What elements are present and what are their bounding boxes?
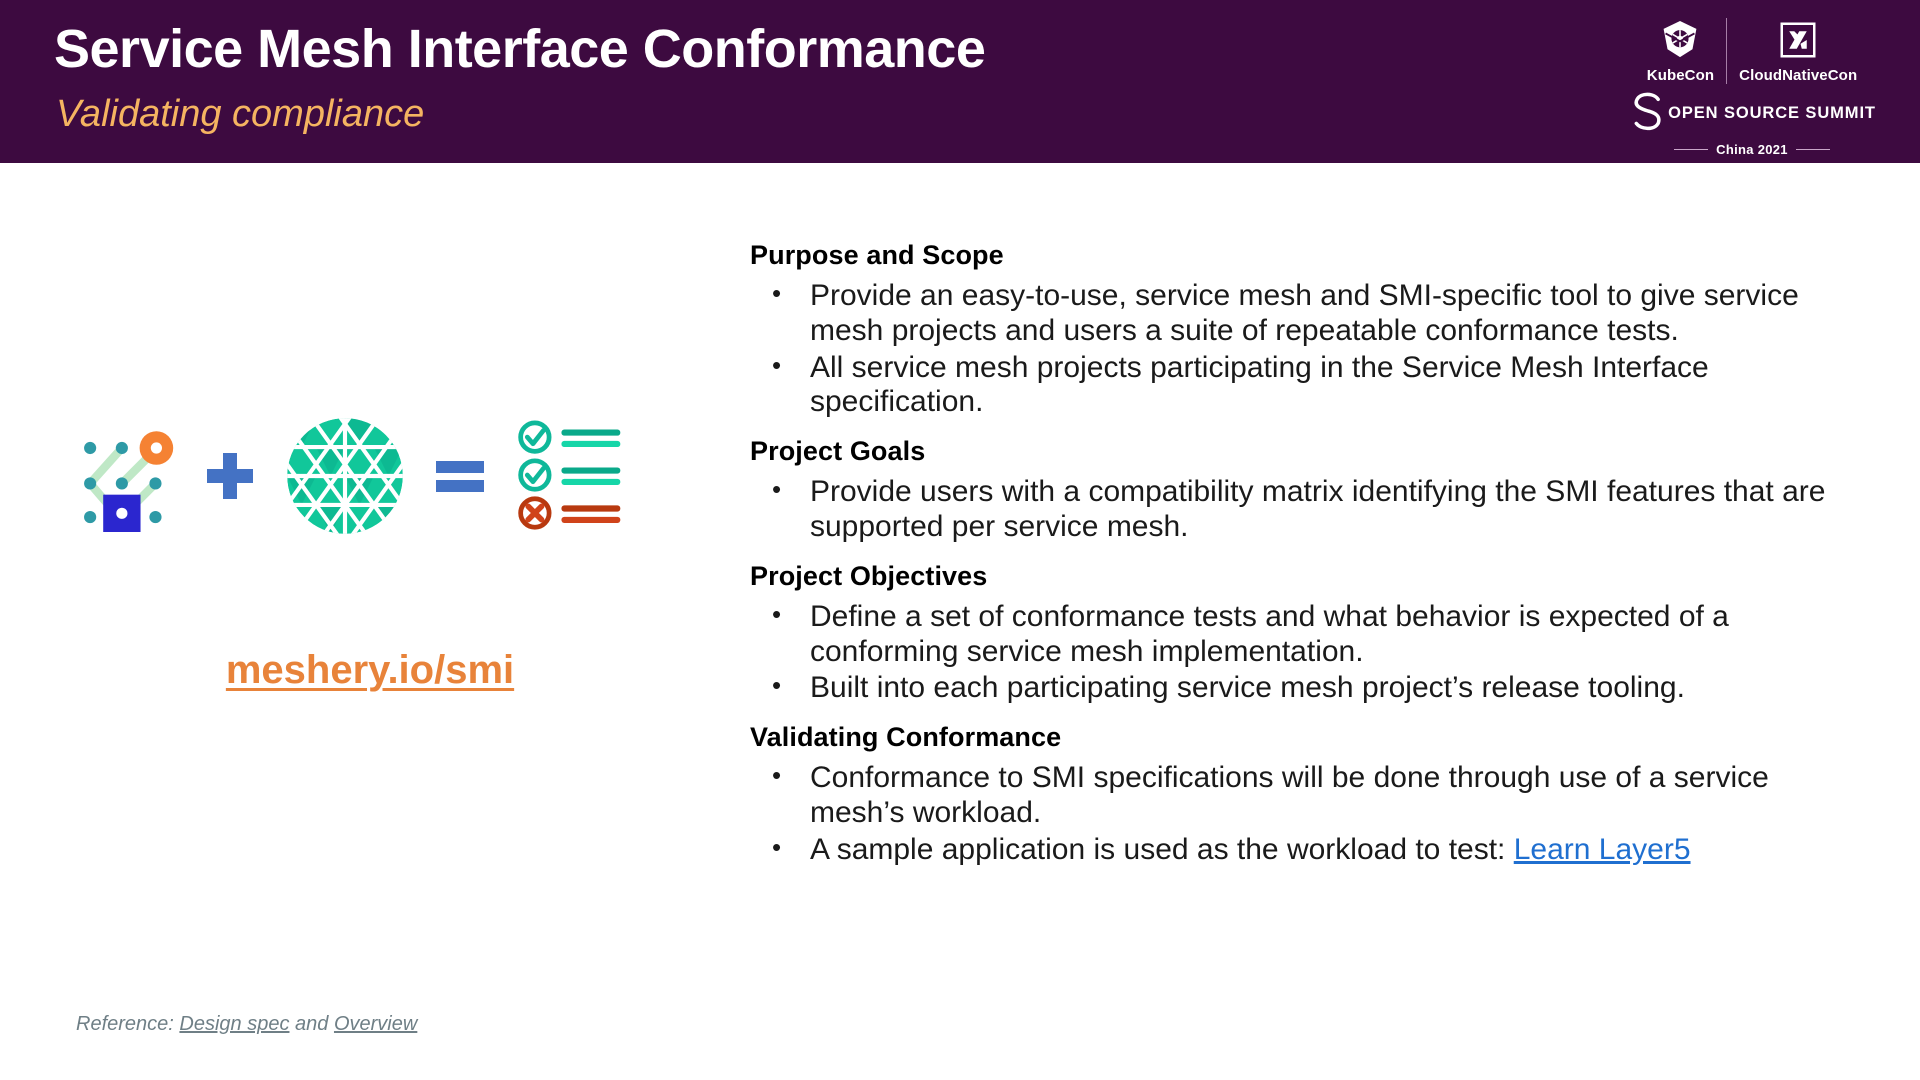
plus-operator-icon bbox=[180, 449, 280, 503]
meshery-smi-link[interactable]: meshery.io/smi bbox=[0, 648, 740, 693]
page-title: Service Mesh Interface Conformance bbox=[54, 20, 985, 79]
section-project-goals: Project Goals Provide users with a compa… bbox=[750, 436, 1870, 545]
summit-s-icon bbox=[1628, 90, 1668, 137]
main-content: Purpose and Scope Provide an easy-to-use… bbox=[750, 240, 1870, 874]
logo-divider bbox=[1726, 18, 1727, 84]
list-item: A sample application is used as the work… bbox=[750, 833, 1870, 868]
kubecon-label: KubeCon bbox=[1647, 67, 1714, 84]
conference-logo: KubeCon CloudNativeCon bbox=[1632, 8, 1872, 154]
slide-header: Service Mesh Interface Conformance Valid… bbox=[0, 0, 1920, 163]
section-heading: Project Objectives bbox=[750, 561, 1870, 592]
kubernetes-helm-icon bbox=[1659, 18, 1701, 62]
reference-design-spec-link[interactable]: Design spec bbox=[179, 1013, 289, 1035]
list-item-text: A sample application is used as the work… bbox=[810, 833, 1514, 866]
reference-overview-link[interactable]: Overview bbox=[334, 1013, 417, 1035]
reference-prefix: Reference: bbox=[76, 1013, 174, 1035]
conformance-results-icon bbox=[510, 420, 630, 532]
section-heading: Validating Conformance bbox=[750, 722, 1870, 753]
cncf-square-icon bbox=[1778, 18, 1818, 62]
list-item: Built into each participating service me… bbox=[750, 671, 1870, 706]
list-item: Conformance to SMI specifications will b… bbox=[750, 761, 1870, 831]
section-validating-conformance: Validating Conformance Conformance to SM… bbox=[750, 722, 1870, 867]
summit-year-label: China 2021 bbox=[1716, 142, 1788, 157]
reference-conjunction: and bbox=[295, 1013, 328, 1035]
year-rule-left bbox=[1674, 149, 1708, 151]
equals-operator-icon bbox=[410, 455, 510, 497]
cloudnativecon-logo: CloudNativeCon bbox=[1727, 8, 1869, 84]
section-project-objectives: Project Objectives Define a set of confo… bbox=[750, 561, 1870, 706]
kubecon-logo: KubeCon bbox=[1635, 8, 1726, 84]
cloudnativecon-label: CloudNativeCon bbox=[1739, 67, 1857, 84]
list-item: Provide an easy-to-use, service mesh and… bbox=[750, 279, 1870, 349]
layer5-mesh-icon bbox=[280, 414, 410, 538]
page-subtitle: Validating compliance bbox=[56, 94, 424, 136]
slide-root: Service Mesh Interface Conformance Valid… bbox=[0, 0, 1920, 1080]
section-purpose-and-scope: Purpose and Scope Provide an easy-to-use… bbox=[750, 240, 1870, 420]
list-item: All service mesh projects participating … bbox=[750, 351, 1870, 421]
bullet-list: Provide an easy-to-use, service mesh and… bbox=[750, 279, 1870, 420]
smi-logo-icon bbox=[60, 420, 180, 532]
learn-layer5-link[interactable]: Learn Layer5 bbox=[1514, 833, 1691, 866]
list-item: Define a set of conformance tests and wh… bbox=[750, 600, 1870, 670]
left-graphic-panel: meshery.io/smi bbox=[0, 163, 740, 1080]
year-rule-right bbox=[1796, 149, 1830, 151]
bullet-list: Define a set of conformance tests and wh… bbox=[750, 600, 1870, 706]
conformance-equation-graphic bbox=[60, 411, 640, 541]
summit-year-row: China 2021 bbox=[1632, 142, 1872, 157]
bullet-list: Provide users with a compatibility matri… bbox=[750, 475, 1870, 545]
list-item: Provide users with a compatibility matri… bbox=[750, 475, 1870, 545]
open-source-summit-row: OPEN SOURCE SUMMIT bbox=[1632, 90, 1872, 137]
section-heading: Purpose and Scope bbox=[750, 240, 1870, 271]
bullet-list: Conformance to SMI specifications will b… bbox=[750, 761, 1870, 867]
logo-top-row: KubeCon CloudNativeCon bbox=[1632, 8, 1872, 84]
open-source-summit-label: OPEN SOURCE SUMMIT bbox=[1668, 104, 1876, 123]
section-heading: Project Goals bbox=[750, 436, 1870, 467]
reference-footer: Reference: Design spec and Overview bbox=[76, 1013, 417, 1036]
